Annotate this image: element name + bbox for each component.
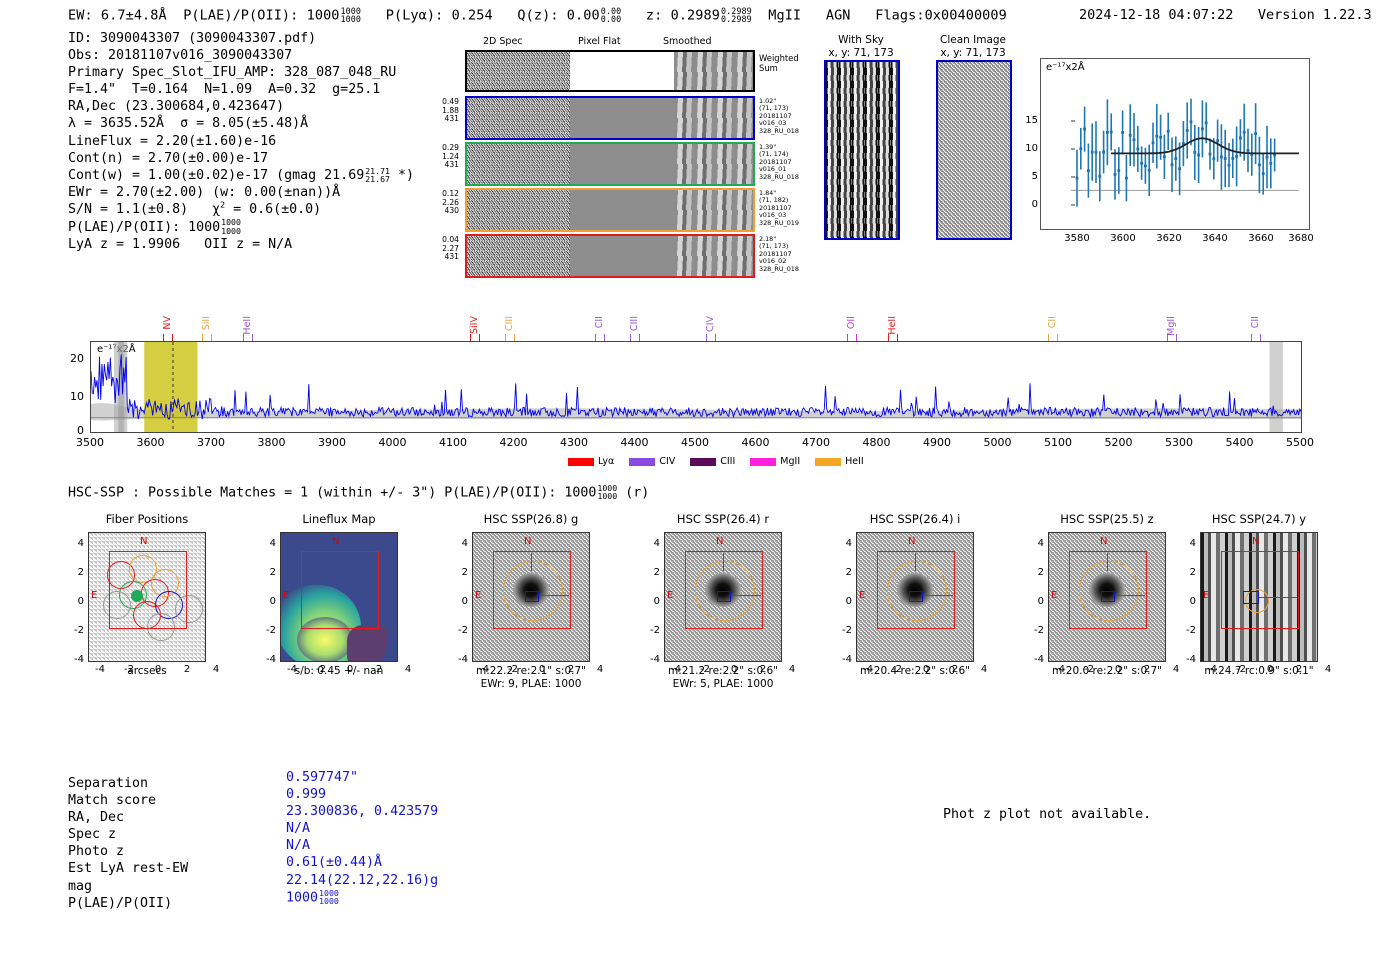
legend-item-ciii: CIII [690, 456, 735, 467]
zoom-xtick-3680: 3680 [1281, 233, 1321, 244]
header-z-range: 0.29890.2989 [721, 7, 752, 24]
cutout-5-ytick-4: 4 [1028, 538, 1044, 549]
compass-east-4: E [859, 590, 865, 601]
cutout-caption-5: m:20.0 re:2.2" s:0.7" [1020, 665, 1194, 678]
legend-item-mgii: MgII [750, 456, 800, 467]
cutout-6-ytick-4: 4 [1180, 538, 1196, 549]
legend-item-civ: CIV [629, 456, 675, 467]
header-qz-range: 0.000.00 [601, 7, 622, 24]
with-sky-caption: With Sky x, y: 71, 173 [806, 34, 916, 59]
legend-label-ciii: CIII [720, 456, 735, 467]
main-xtick-4200: 4200 [492, 436, 536, 449]
hsc-ssp-match-line: HSC-SSP : Possible Matches = 1 (within +… [68, 484, 649, 501]
legend-label-mgii: MgII [780, 456, 800, 467]
info-redshifts: LyA z = 1.9906 OII z = N/A [68, 237, 292, 252]
hsc-line-range: 10001000 [597, 484, 617, 501]
main-xtick-5100: 5100 [1036, 436, 1080, 449]
cutout-caption-6: m:24.7 rc:0.9" s:0.1" [1172, 665, 1346, 678]
compass-east-1: E [283, 590, 289, 601]
cutout-1[interactable]: Lineflux MapNE420-2-4-4-2024s/b: 0.45 +/… [280, 532, 398, 662]
info-snr-chi2: S/N = 1.1(±0.8) χ2 = 0.6(±0.0) [68, 202, 321, 217]
compass-north-2: N [524, 536, 531, 547]
line-label-civ-4524: CIV [705, 316, 716, 332]
zoom-xtick-3580: 3580 [1057, 233, 1097, 244]
photoz-note: Phot z plot not available. [943, 807, 1151, 822]
cutout-1-ytick-0: 0 [260, 596, 276, 607]
cutout-3-ytick-2: 2 [644, 567, 660, 578]
match-table-keys: Separation Match score RA, Dec Spec z Ph… [68, 775, 188, 912]
line-label-ciii-4399: CIII [629, 316, 640, 331]
cutout-4-ytick-0: 0 [836, 596, 852, 607]
info-line-3: F=1.4" T=0.164 N=1.09 A=0.32 g=25.1 [68, 82, 380, 97]
main-ytick-10: 10 [62, 390, 84, 403]
match-value-photo-z: N/A [286, 837, 438, 854]
cutout-caption-3: m:21.2 re:2.2" s:0.6" EWr: 5, PLAE: 1000 [636, 665, 810, 690]
match-plae-range: 10001000 [319, 889, 339, 906]
legend-swatch-civ [629, 458, 655, 466]
fiber-4-values: 0.04 2.27 431 [425, 236, 459, 262]
match-value-est-lya-rest-ew: 0.61(±0.44)Å [286, 854, 438, 871]
compass-north-3: N [716, 536, 723, 547]
main-ytick-20: 20 [62, 352, 84, 365]
clean-image-title: Clean Image [940, 34, 1006, 46]
hsc-line-post: (r) [617, 485, 649, 500]
weighted-sum-smoothed [674, 52, 753, 90]
compass-north-4: N [908, 536, 915, 547]
cutout-title-2: HSC SSP(26.8) g [450, 512, 612, 526]
cutout-6-ytick--4: -4 [1180, 654, 1196, 665]
main-xtick-5400: 5400 [1218, 436, 1262, 449]
cutout-1-ytick-4: 4 [260, 538, 276, 549]
main-xtick-4400: 4400 [613, 436, 657, 449]
cutout-0[interactable]: Fiber PositionsNE420-2-4-4-2024arcsecs [88, 532, 206, 662]
cutout-1-ytick--4: -4 [260, 654, 276, 665]
header-classification: AGN [826, 7, 851, 23]
cutout-4-ytick--4: -4 [836, 654, 852, 665]
spec2d-col-title-pixelflat: Pixel Flat [578, 36, 621, 47]
spec2d-col-title-2dspec: 2D Spec [483, 36, 523, 47]
zoom-ytick-5: 5 [1014, 171, 1038, 182]
zoom-xtick-3640: 3640 [1195, 233, 1235, 244]
match-value-separation: 0.597747" [286, 769, 438, 786]
cutout-image-2[interactable] [472, 532, 590, 662]
legend-swatch-mgii [750, 458, 776, 466]
zoom-xtick-3660: 3660 [1241, 233, 1281, 244]
cutout-caption-1: s/b: 0.45 +/- nan [252, 665, 426, 678]
clean-image [936, 60, 1012, 240]
weighted-sum-pixelflat [570, 52, 674, 90]
cutout-0-ytick-0: 0 [68, 596, 84, 607]
cutout-2-ytick-0: 0 [452, 596, 468, 607]
cutout-0-ytick-2: 2 [68, 567, 84, 578]
cutout-3[interactable]: HSC SSP(26.4) rNE420-2-4-4-2024m:21.2 re… [664, 532, 782, 662]
legend-swatch-ciii [690, 458, 716, 466]
fiber-1-meta: 1.02" (71, 173) 20181107 v016_03 328_RU_… [759, 98, 821, 135]
cutout-6-ytick--2: -2 [1180, 625, 1196, 636]
spec2d-fiber-strip-4 [465, 234, 755, 278]
legend-item-lyα: Lyα [568, 456, 614, 467]
legend-label-lyα: Lyα [598, 456, 614, 467]
with-sky-coords: x, y: 71, 173 [828, 47, 893, 59]
cutout-caption-2: m:22.2 re:2.1" s:0.7" EWr: 9, PLAE: 1000 [444, 665, 618, 690]
match-value-match-score: 0.999 [286, 786, 438, 803]
legend-swatch-lyα [568, 458, 594, 466]
cutout-5-ytick-2: 2 [1028, 567, 1044, 578]
main-xtick-4700: 4700 [794, 436, 838, 449]
cutout-3-ytick--4: -4 [644, 654, 660, 665]
header-timestamp-version: 2024-12-18 04:07:22 Version 1.22.3 [1079, 7, 1372, 23]
legend-swatch-heii [815, 458, 841, 466]
main-xtick-3800: 3800 [250, 436, 294, 449]
cutout-1-ytick-2: 2 [260, 567, 276, 578]
main-spectrum-canvas [91, 342, 1301, 432]
line-label-cii-4341: CII [594, 316, 605, 328]
cutout-image-5[interactable] [1048, 532, 1166, 662]
zoom-plot-canvas [1041, 59, 1309, 229]
info-line-7: Cont(n) = 2.70(±0.00)e-17 [68, 151, 268, 166]
compass-north-0: N [140, 536, 147, 547]
cutout-4-ytick-2: 2 [836, 567, 852, 578]
zoom-xtick-3600: 3600 [1103, 233, 1143, 244]
cutout-3-ytick--2: -2 [644, 625, 660, 636]
source-info-block: ID: 3090043307 (3090043307.pdf) Obs: 201… [68, 30, 414, 253]
compass-north-6: N [1252, 536, 1259, 547]
match-value-p-lae-p-oii: 100010001000 [286, 889, 438, 906]
line-label-cii-5425: CII [1250, 316, 1261, 328]
cutout-image-0[interactable] [88, 532, 206, 662]
weighted-sum-2dspec [467, 52, 570, 90]
main-xtick-4900: 4900 [915, 436, 959, 449]
cutout-caption-4: m:20.4 re:2.2" s:0.6" [828, 665, 1002, 678]
match-value-mag: 22.14(22.12,22.16)g [286, 872, 438, 889]
cutout-image-6[interactable] [1200, 532, 1318, 662]
main-xtick-4800: 4800 [855, 436, 899, 449]
fiber-4-meta: 2.18" (71, 173) 20181107 v016_02 328_RU_… [759, 236, 821, 273]
clean-image-coords: x, y: 71, 173 [940, 47, 1005, 59]
cutout-image-4[interactable] [856, 532, 974, 662]
cutout-title-6: HSC SSP(24.7) y [1178, 512, 1340, 526]
main-xtick-5500: 5500 [1278, 436, 1322, 449]
cutout-0-ytick-4: 4 [68, 538, 84, 549]
header-qz: Q(z): 0.00 [517, 7, 599, 23]
main-spectrum-plot: e⁻¹⁷x2Å [90, 341, 1302, 433]
fiber-1-values: 0.49 1.88 431 [425, 98, 459, 124]
main-xtick-4500: 4500 [673, 436, 717, 449]
main-xtick-4000: 4000 [371, 436, 415, 449]
compass-north-5: N [1100, 536, 1107, 547]
spec2d-col-title-smoothed: Smoothed [663, 36, 712, 47]
header-species: MgII [768, 7, 801, 23]
cutout-4-ytick-4: 4 [836, 538, 852, 549]
header-z: z: 0.2989 [646, 7, 720, 23]
zoom-spectrum-plot: e⁻¹⁷x2Å 15 10 5 0 3580 3600 3620 3640 36… [1040, 58, 1310, 230]
line-label-siiv-4135: SiIV [469, 316, 480, 334]
header-plae-range: 10001000 [341, 7, 362, 24]
cutout-title-4: HSC SSP(26.4) i [834, 512, 996, 526]
cutout-5-ytick--4: -4 [1028, 654, 1044, 665]
cutout-title-3: HSC SSP(26.4) r [642, 512, 804, 526]
cutout-4[interactable]: HSC SSP(26.4) iNE420-2-4-4-2024m:20.4 re… [856, 532, 974, 662]
legend-label-civ: CIV [659, 456, 675, 467]
cutout-3-ytick-0: 0 [644, 596, 660, 607]
main-xtick-4600: 4600 [734, 436, 778, 449]
header-version: Version 1.22.3 [1258, 7, 1372, 23]
with-sky-image [824, 60, 900, 240]
line-label-cii-5090: CII [1047, 316, 1058, 328]
cutout-title-0: Fiber Positions [66, 512, 228, 526]
header-flags: Flags:0x00400009 [875, 7, 1007, 23]
line-label-mgii-5286: MgII [1166, 316, 1177, 336]
info-plae: P(LAE)/P(OII): 100010001000 [68, 220, 241, 235]
legend-item-heii: HeII [815, 456, 864, 467]
info-line-5: λ = 3635.52Å σ = 8.05(±5.48)Å [68, 116, 308, 131]
spec2d-fiber-strip-3 [465, 188, 755, 232]
info-cont-w: Cont(w) = 1.00(±0.02)e-17 (gmag 21.6921.… [68, 168, 414, 183]
info-ewr: EWr = 2.70(±2.00) (w: 0.00(±nan))Å [68, 185, 340, 200]
header-summary-line: EW: 6.7±4.8Å P(LAE)/P(OII): 100010001000… [68, 7, 1007, 24]
cutout-5-ytick--2: -2 [1028, 625, 1044, 636]
main-xtick-3500: 3500 [68, 436, 112, 449]
main-xtick-3900: 3900 [310, 436, 354, 449]
clean-image-caption: Clean Image x, y: 71, 173 [918, 34, 1028, 59]
main-xtick-5000: 5000 [976, 436, 1020, 449]
cutout-5-ytick-0: 0 [1028, 596, 1044, 607]
header-plya: P(Lyα): 0.254 [386, 7, 493, 23]
cutout-1-ytick--2: -2 [260, 625, 276, 636]
line-label-nv-3627: NV [162, 316, 173, 330]
compass-east-6: E [1203, 590, 1209, 601]
main-xtick-4100: 4100 [431, 436, 475, 449]
line-label-heii-3760: HeII [242, 316, 253, 335]
legend-label-heii: HeII [845, 456, 864, 467]
header-ew: EW: 6.7±4.8Å [68, 7, 167, 23]
info-line-4: RA,Dec (23.300684,0.423647) [68, 99, 284, 114]
spec2d-weighted-sum-strip [465, 50, 755, 92]
main-xtick-5300: 5300 [1157, 436, 1201, 449]
line-label-siii-3692: SiII [201, 316, 212, 330]
cutout-2-ytick-4: 4 [452, 538, 468, 549]
fiber-3-values: 0.12 2.26 430 [425, 190, 459, 216]
info-line-6: LineFlux = 2.20(±1.60)e-16 [68, 134, 276, 149]
compass-east-3: E [667, 590, 673, 601]
zoom-ytick-15: 15 [1014, 115, 1038, 126]
cutout-title-1: Lineflux Map [258, 512, 420, 526]
info-line-0: ID: 3090043307 (3090043307.pdf) [68, 31, 316, 46]
match-value-spec-z: N/A [286, 820, 438, 837]
cutout-4-ytick--2: -2 [836, 625, 852, 636]
compass-east-2: E [475, 590, 481, 601]
spec2d-fiber-strip-1 [465, 96, 755, 140]
compass-east-0: E [91, 590, 97, 601]
two-d-spectra-panel: 2D Spec Pixel Flat Smoothed Weighted Sum… [425, 36, 795, 251]
cutout-title-5: HSC SSP(25.5) z [1026, 512, 1188, 526]
info-line-2: Primary Spec_Slot_IFU_AMP: 328_087_048_R… [68, 65, 396, 80]
cutout-0-ytick--2: -2 [68, 625, 84, 636]
cutout-2-ytick-2: 2 [452, 567, 468, 578]
line-label-heii-4826: HeII [887, 316, 898, 335]
compass-north-1: N [332, 536, 339, 547]
cutout-2-ytick--2: -2 [452, 625, 468, 636]
line-label-oii-4758: OII [846, 316, 857, 329]
main-xtick-5200: 5200 [1097, 436, 1141, 449]
fiber-2-values: 0.29 1.24 431 [425, 144, 459, 170]
spectrum-legend: LyαCIVCIIIMgIIHeII [568, 456, 864, 467]
zoom-ytick-10: 10 [1014, 143, 1038, 154]
compass-east-5: E [1051, 590, 1057, 601]
cutout-6-ytick-2: 2 [1180, 567, 1196, 578]
spec2d-fiber-strip-2 [465, 142, 755, 186]
cutout-3-ytick-4: 4 [644, 538, 660, 549]
match-table-values: 0.597747"0.99923.300836, 0.423579N/AN/A0… [286, 769, 438, 906]
zoom-xtick-3620: 3620 [1149, 233, 1189, 244]
header-plae-label: P(LAE)/P(OII): 1000 [183, 7, 339, 23]
cutout-6[interactable]: HSC SSP(24.7) yNE420-2-4-4-2024m:24.7 rc… [1200, 532, 1318, 662]
main-xtick-3700: 3700 [189, 436, 233, 449]
zoom-ytick-0: 0 [1014, 199, 1038, 210]
cutout-2-ytick--4: -4 [452, 654, 468, 665]
line-label-ciii-4193: CIII [504, 316, 515, 331]
hsc-line-pre: HSC-SSP : Possible Matches = 1 (within +… [68, 485, 596, 500]
cutout-0-ytick--4: -4 [68, 654, 84, 665]
cutout-6-ytick-0: 0 [1180, 596, 1196, 607]
cutout-caption-0: arcsecs [60, 665, 234, 678]
cutout-image-1[interactable] [280, 532, 398, 662]
cutout-2[interactable]: HSC SSP(26.8) gNE420-2-4-4-2024m:22.2 re… [472, 532, 590, 662]
info-line-1: Obs: 20181107v016_3090043307 [68, 48, 292, 63]
fiber-2-meta: 1.39" (71, 174) 20181107 v016_01 328_RU_… [759, 144, 821, 181]
fiber-3-meta: 1.84" (71, 182) 20181107 v016_03 328_RU_… [759, 190, 821, 227]
cutout-5[interactable]: HSC SSP(25.5) zNE420-2-4-4-2024m:20.0 re… [1048, 532, 1166, 662]
main-xtick-3600: 3600 [129, 436, 173, 449]
main-xtick-4300: 4300 [552, 436, 596, 449]
cutout-image-3[interactable] [664, 532, 782, 662]
header-datetime: 2024-12-18 04:07:22 [1079, 7, 1233, 23]
match-value-ra-dec: 23.300836, 0.423579 [286, 803, 438, 820]
with-sky-title: With Sky [838, 34, 884, 46]
